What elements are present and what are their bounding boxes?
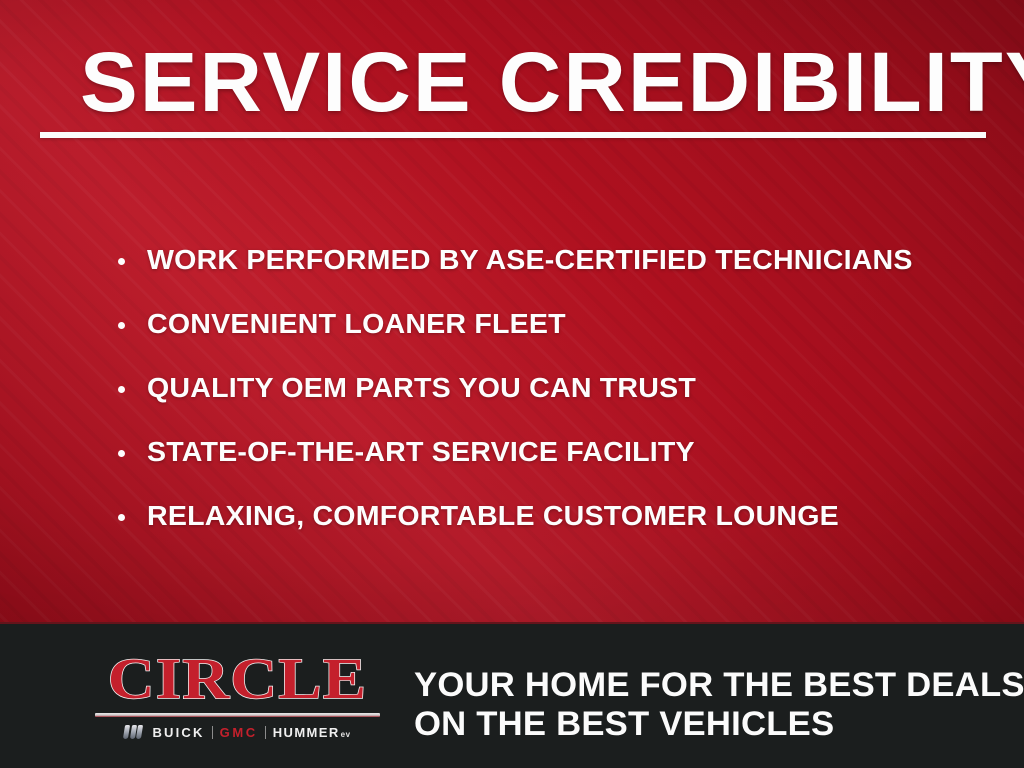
brand-label-buick: BUICK [152,726,204,739]
list-item-label: QUALITY OEM PARTS YOU CAN TRUST [147,372,696,404]
title-underline-rule [40,132,986,138]
list-item: QUALITY OEM PARTS YOU CAN TRUST [118,356,978,420]
list-item-label: STATE-OF-THE-ART SERVICE FACILITY [147,436,695,468]
feature-bullet-list: WORK PERFORMED BY ASE-CERTIFIED TECHNICI… [118,228,978,548]
footer-tagline-line-2: ON THE BEST VEHICLES [414,705,1024,744]
bullet-dot-icon [118,450,125,457]
footer-tagline-line-1: YOUR HOME FOR THE BEST DEALS [414,666,1024,705]
bullet-dot-icon [118,386,125,393]
footer-bar: CIRCLE BUICK GMC HUMMERev YOUR HOME FOR … [0,622,1024,768]
brand-separator [212,726,213,739]
dealer-logo[interactable]: CIRCLE BUICK GMC HUMMERev [95,650,380,741]
page-title: SERVICE CREDIBILITY [80,40,1007,124]
list-item-label: WORK PERFORMED BY ASE-CERTIFIED TECHNICI… [147,244,913,276]
list-item-label: CONVENIENT LOANER FLEET [147,308,566,340]
dealer-logo-wordmark: CIRCLE [78,650,397,708]
bullet-dot-icon [118,514,125,521]
brand-label-hummer-ev: ev [341,730,351,739]
brand-lockup: BUICK GMC HUMMERev [95,723,380,741]
list-item: STATE-OF-THE-ART SERVICE FACILITY [118,420,978,484]
footer-top-edge-glow [0,622,1024,624]
brand-label-hummer: HUMMERev [273,726,351,739]
list-item-label: RELAXING, COMFORTABLE CUSTOMER LOUNGE [147,500,839,532]
footer-tagline: YOUR HOME FOR THE BEST DEALS ON THE BEST… [414,666,1024,745]
brand-separator [265,726,266,739]
brand-label-gmc: GMC [220,726,258,739]
list-item: WORK PERFORMED BY ASE-CERTIFIED TECHNICI… [118,228,978,292]
hero-panel: SERVICE CREDIBILITY WORK PERFORMED BY AS… [0,0,1024,622]
dealer-logo-divider [95,713,380,717]
slide-root: SERVICE CREDIBILITY WORK PERFORMED BY AS… [0,0,1024,768]
bullet-dot-icon [118,258,125,265]
bullet-dot-icon [118,322,125,329]
list-item: RELAXING, COMFORTABLE CUSTOMER LOUNGE [118,484,978,548]
brand-label-hummer-text: HUMMER [273,725,340,740]
buick-tri-shield-icon [124,725,142,739]
list-item: CONVENIENT LOANER FLEET [118,292,978,356]
